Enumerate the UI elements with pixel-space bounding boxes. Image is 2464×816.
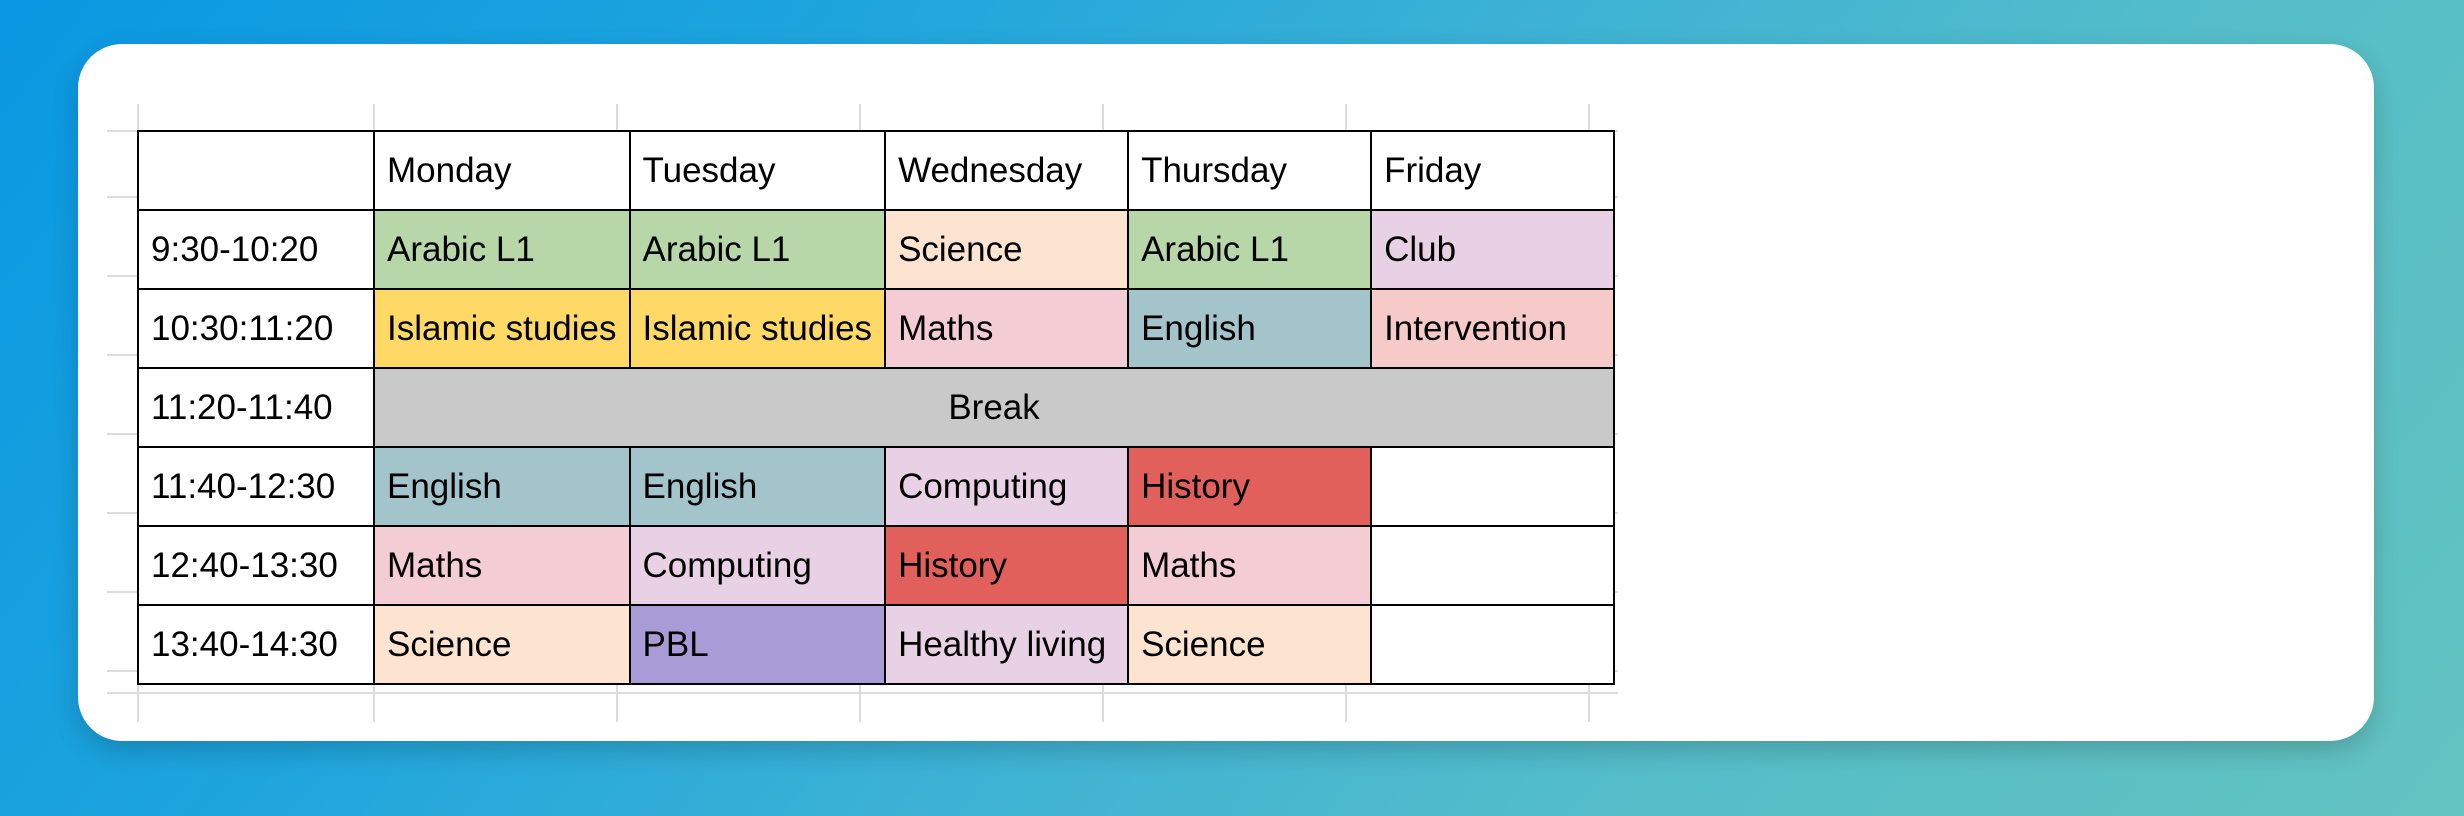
lesson-cell: Healthy living [885,605,1128,684]
timetable-card: MondayTuesdayWednesdayThursdayFriday9:30… [78,44,2374,741]
lesson-cell: Arabic L1 [630,210,886,289]
time-slot-cell: 13:40-14:30 [138,605,374,684]
lesson-cell: Science [885,210,1128,289]
lesson-cell: English [374,447,630,526]
lesson-cell: Arabic L1 [1128,210,1371,289]
weekly-timetable: MondayTuesdayWednesdayThursdayFriday9:30… [137,130,1615,685]
timetable-row: 11:20-11:40Break [138,368,1614,447]
time-slot-cell: 10:30:11:20 [138,289,374,368]
lesson-cell: Maths [885,289,1128,368]
timetable-row: 10:30:11:20Islamic studiesIslamic studie… [138,289,1614,368]
lesson-cell: Computing [885,447,1128,526]
time-slot-cell: 11:40-12:30 [138,447,374,526]
timetable-row: 11:40-12:30EnglishEnglishComputingHistor… [138,447,1614,526]
day-header-friday: Friday [1371,131,1614,210]
timetable-header-row: MondayTuesdayWednesdayThursdayFriday [138,131,1614,210]
empty-lesson-cell [1371,526,1614,605]
lesson-cell: Club [1371,210,1614,289]
day-header-monday: Monday [374,131,630,210]
time-slot-cell: 12:40-13:30 [138,526,374,605]
day-header-wednesday: Wednesday [885,131,1128,210]
lesson-cell: History [885,526,1128,605]
lesson-cell: English [630,447,886,526]
day-header-thursday: Thursday [1128,131,1371,210]
corner-cell [138,131,374,210]
lesson-cell: Maths [374,526,630,605]
time-slot-cell: 9:30-10:20 [138,210,374,289]
spreadsheet-area: MondayTuesdayWednesdayThursdayFriday9:30… [137,130,1615,685]
lesson-cell: History [1128,447,1371,526]
lesson-cell: Islamic studies [630,289,886,368]
break-cell: Break [374,368,1614,447]
empty-lesson-cell [1371,605,1614,684]
empty-lesson-cell [1371,447,1614,526]
lesson-cell: Science [374,605,630,684]
lesson-cell: Maths [1128,526,1371,605]
timetable-row: 13:40-14:30SciencePBLHealthy livingScien… [138,605,1614,684]
lesson-cell: Intervention [1371,289,1614,368]
timetable-row: 12:40-13:30MathsComputingHistoryMaths [138,526,1614,605]
timetable-row: 9:30-10:20Arabic L1Arabic L1ScienceArabi… [138,210,1614,289]
day-header-tuesday: Tuesday [630,131,886,210]
lesson-cell: Science [1128,605,1371,684]
time-slot-cell: 11:20-11:40 [138,368,374,447]
timetable-body: MondayTuesdayWednesdayThursdayFriday9:30… [138,131,1614,684]
lesson-cell: English [1128,289,1371,368]
lesson-cell: PBL [630,605,886,684]
lesson-cell: Computing [630,526,886,605]
lesson-cell: Islamic studies [374,289,630,368]
lesson-cell: Arabic L1 [374,210,630,289]
